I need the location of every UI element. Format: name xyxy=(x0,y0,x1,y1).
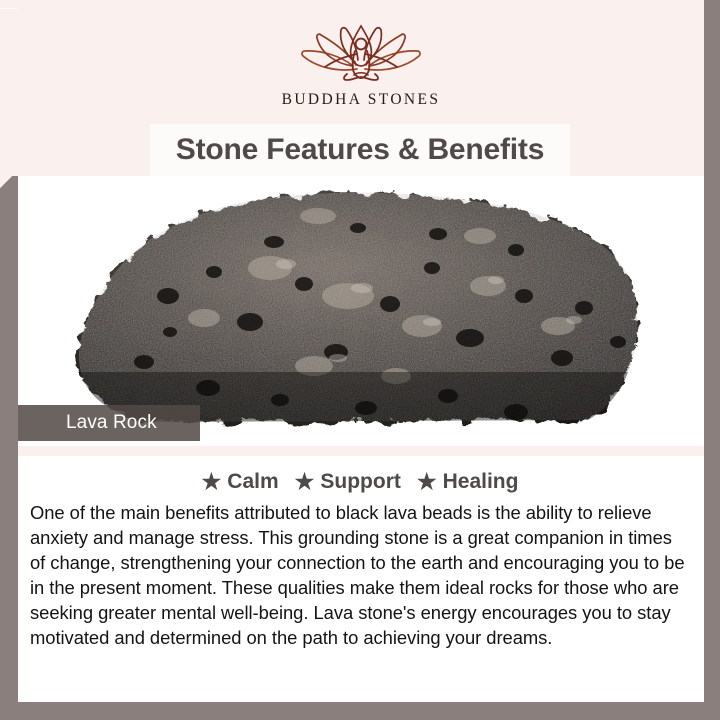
frame-band-bottom xyxy=(0,702,60,720)
frame-band-left-bevel xyxy=(0,176,18,190)
brand-name: BUDDHA STONES xyxy=(282,91,441,109)
frame-band-right xyxy=(704,0,720,720)
lotus-meditation-icon xyxy=(291,20,431,82)
benefit-label: Healing xyxy=(443,470,519,494)
benefit-item: ★ Healing xyxy=(417,470,519,494)
description-text: One of the main benefits attributed to b… xyxy=(30,500,690,650)
content-panel: ★ Calm ★ Support ★ Healing One of the ma… xyxy=(18,456,704,702)
photo-caption-bar: Lava Rock xyxy=(18,405,200,441)
photo-caption: Lava Rock xyxy=(18,412,157,434)
product-info-poster: BUDDHA STONES Stone Features & Benefits xyxy=(0,0,720,720)
star-icon: ★ xyxy=(295,471,315,493)
page-title: Stone Features & Benefits xyxy=(176,133,544,167)
benefit-label: Support xyxy=(320,470,400,494)
benefit-label: Calm xyxy=(227,470,278,494)
benefit-item: ★ Support xyxy=(295,470,401,494)
star-icon: ★ xyxy=(202,471,222,493)
benefit-item: ★ Calm xyxy=(202,470,279,494)
brand-logo: BUDDHA STONES xyxy=(282,20,441,109)
benefits-row: ★ Calm ★ Support ★ Healing xyxy=(30,470,690,494)
star-icon: ★ xyxy=(417,471,437,493)
divider-strip xyxy=(18,446,704,456)
page-title-bar: Stone Features & Benefits xyxy=(150,124,570,176)
frame-band-left xyxy=(0,176,18,720)
